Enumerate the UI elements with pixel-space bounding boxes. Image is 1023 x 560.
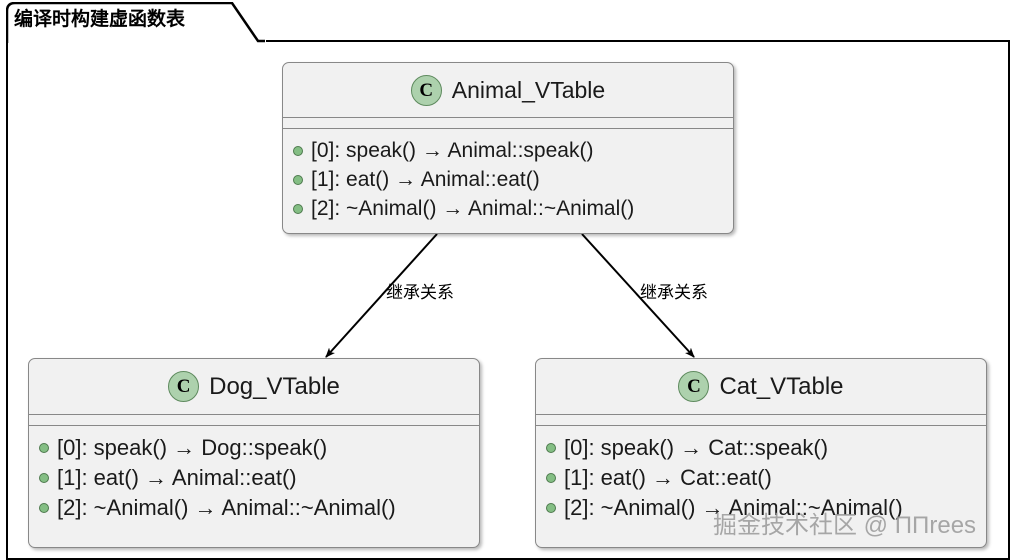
- method-label: [1]: eat() → Cat::eat(): [564, 467, 772, 489]
- method-bullet-icon: [293, 175, 303, 185]
- class-title-dog-vtable: Dog_VTable: [209, 373, 340, 401]
- class-header-animal-vtable: C Animal_VTable: [283, 63, 733, 117]
- method-row[interactable]: [0]: speak() → Animal::speak(): [283, 136, 733, 165]
- method-row[interactable]: [1]: eat() → Cat::eat(): [536, 463, 986, 493]
- method-row[interactable]: [0]: speak() → Dog::speak(): [29, 433, 479, 463]
- class-stereotype-icon: C: [411, 75, 442, 106]
- edge-label-animal-to-dog: 继承关系: [386, 283, 454, 303]
- class-header-dog-vtable: C Dog_VTable: [29, 359, 479, 414]
- method-label: [0]: speak() → Animal::speak(): [311, 140, 593, 161]
- method-bullet-icon: [39, 443, 49, 453]
- method-row[interactable]: [1]: eat() → Animal::eat(): [283, 165, 733, 194]
- diagram-title: 编译时构建虚函数表: [14, 8, 185, 32]
- class-header-cat-vtable: C Cat_VTable: [536, 359, 986, 414]
- method-row[interactable]: [2]: ~Animal() → Animal::~Animal(): [283, 194, 733, 223]
- class-box-dog-vtable[interactable]: C Dog_VTable [0]: speak() → Dog::speak()…: [28, 358, 480, 548]
- method-row[interactable]: [2]: ~Animal() → Animal::~Animal(): [29, 493, 479, 523]
- method-row[interactable]: [1]: eat() → Animal::eat(): [29, 463, 479, 493]
- method-bullet-icon: [39, 503, 49, 513]
- method-bullet-icon: [546, 473, 556, 483]
- attributes-compartment-empty: [29, 415, 479, 425]
- method-bullet-icon: [39, 473, 49, 483]
- method-label: [0]: speak() → Dog::speak(): [57, 437, 327, 459]
- methods-compartment-animal-vtable: [0]: speak() → Animal::speak() [1]: eat(…: [283, 129, 733, 230]
- class-stereotype-icon: C: [168, 371, 199, 402]
- class-title-animal-vtable: Animal_VTable: [452, 77, 605, 104]
- attributes-compartment-empty: [283, 118, 733, 128]
- diagram-canvas: 编译时构建虚函数表 继承关系 继承关系 C Animal_VTable [0]:…: [0, 0, 1023, 551]
- method-label: [2]: ~Animal() → Animal::~Animal(): [311, 198, 634, 219]
- method-label: [1]: eat() → Animal::eat(): [57, 467, 297, 489]
- attributes-compartment-empty: [536, 415, 986, 425]
- watermark: 掘金技术社区 @ ΠΠrees: [713, 512, 976, 540]
- method-label: [2]: ~Animal() → Animal::~Animal(): [57, 497, 396, 519]
- method-bullet-icon: [293, 204, 303, 214]
- method-bullet-icon: [546, 443, 556, 453]
- edge-label-animal-to-cat: 继承关系: [640, 283, 708, 303]
- method-row[interactable]: [0]: speak() → Cat::speak(): [536, 433, 986, 463]
- method-bullet-icon: [546, 503, 556, 513]
- methods-compartment-dog-vtable: [0]: speak() → Dog::speak() [1]: eat() →…: [29, 426, 479, 530]
- class-title-cat-vtable: Cat_VTable: [719, 373, 843, 401]
- method-label: [1]: eat() → Animal::eat(): [311, 169, 540, 190]
- method-bullet-icon: [293, 146, 303, 156]
- class-stereotype-icon: C: [678, 371, 709, 402]
- class-box-animal-vtable[interactable]: C Animal_VTable [0]: speak() → Animal::s…: [282, 62, 734, 234]
- method-label: [0]: speak() → Cat::speak(): [564, 437, 828, 459]
